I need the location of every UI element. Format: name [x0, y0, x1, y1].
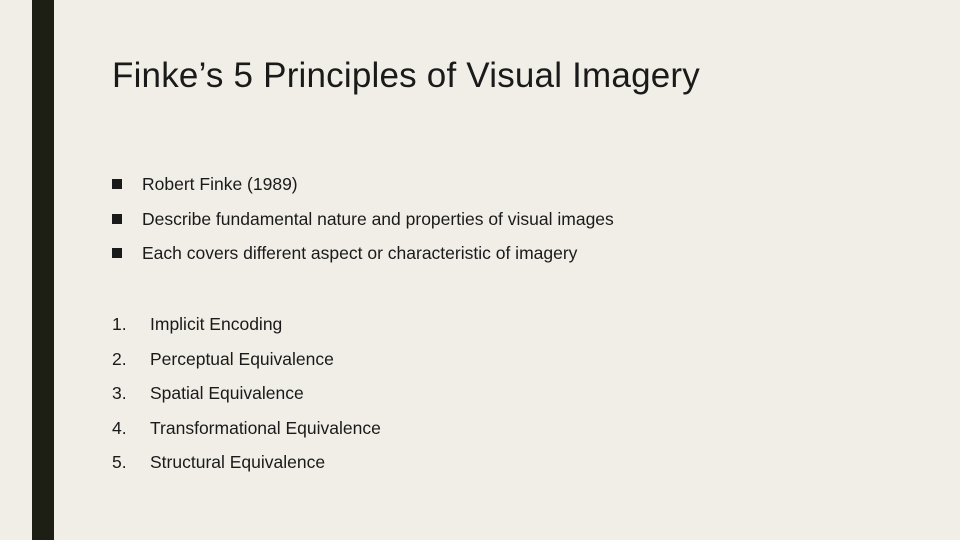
square-bullet-icon — [112, 248, 122, 258]
list-item-number: 3. — [112, 381, 140, 405]
list-item: 1. Implicit Encoding — [112, 312, 912, 336]
list-item: 4. Transformational Equivalence — [112, 416, 912, 440]
list-item-label: Robert Finke (1989) — [142, 172, 298, 196]
list-item: 3. Spatial Equivalence — [112, 381, 912, 405]
page-title: Finke’s 5 Principles of Visual Imagery — [112, 55, 942, 97]
list-item-number: 1. — [112, 312, 140, 336]
list-item-label: Structural Equivalence — [150, 450, 325, 474]
slide: Finke’s 5 Principles of Visual Imagery R… — [0, 0, 960, 540]
bullet-list: Robert Finke (1989) Describe fundamental… — [112, 172, 912, 276]
list-item: 5. Structural Equivalence — [112, 450, 912, 474]
list-item: Describe fundamental nature and properti… — [112, 207, 912, 231]
slide-accent-bar — [32, 0, 54, 540]
slide-left-margin — [0, 0, 32, 540]
list-item-label: Implicit Encoding — [150, 312, 282, 336]
list-item: Robert Finke (1989) — [112, 172, 912, 196]
list-item: 2. Perceptual Equivalence — [112, 347, 912, 371]
list-item-label: Transformational Equivalence — [150, 416, 381, 440]
list-item-label: Spatial Equivalence — [150, 381, 304, 405]
slide-content: Finke’s 5 Principles of Visual Imagery R… — [60, 0, 960, 540]
list-item-number: 2. — [112, 347, 140, 371]
list-item-number: 4. — [112, 416, 140, 440]
list-item: Each covers different aspect or characte… — [112, 241, 912, 265]
square-bullet-icon — [112, 214, 122, 224]
numbered-list: 1. Implicit Encoding 2. Perceptual Equiv… — [112, 312, 912, 485]
list-item-label: Perceptual Equivalence — [150, 347, 334, 371]
list-item-label: Describe fundamental nature and properti… — [142, 207, 614, 231]
list-item-label: Each covers different aspect or characte… — [142, 241, 577, 265]
list-item-number: 5. — [112, 450, 140, 474]
square-bullet-icon — [112, 179, 122, 189]
